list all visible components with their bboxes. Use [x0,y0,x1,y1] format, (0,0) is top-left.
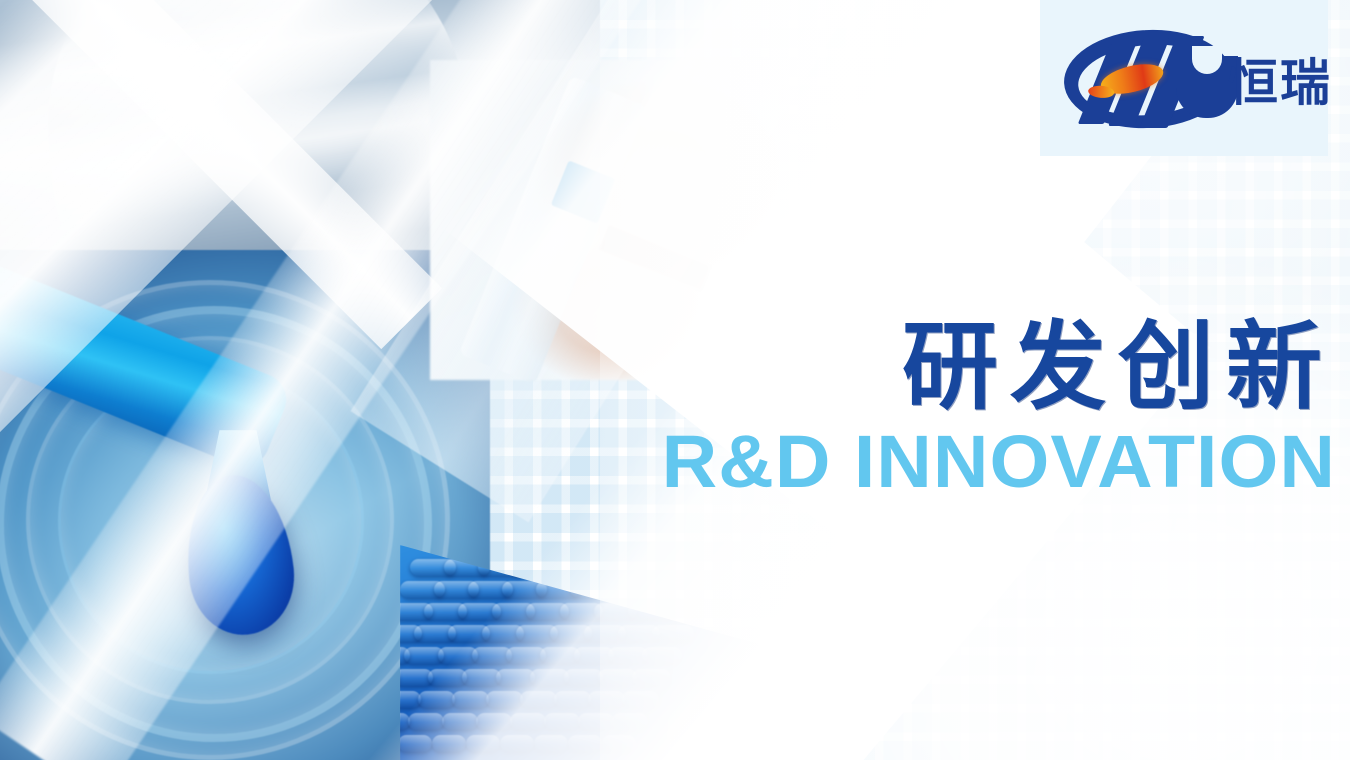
page-subtitle: R&D INNOVATION [608,425,1336,499]
brand-name: 恒瑞 [1228,58,1332,108]
brand-logo-panel: 恒瑞 [1040,0,1328,156]
rd-innovation-banner: 研发创新 R&D INNOVATION 恒瑞 [0,0,1350,760]
hengrui-logo-icon [1064,26,1236,132]
page-title: 研发创新 [636,318,1336,419]
headline-block: 研发创新 R&D INNOVATION [636,318,1336,499]
